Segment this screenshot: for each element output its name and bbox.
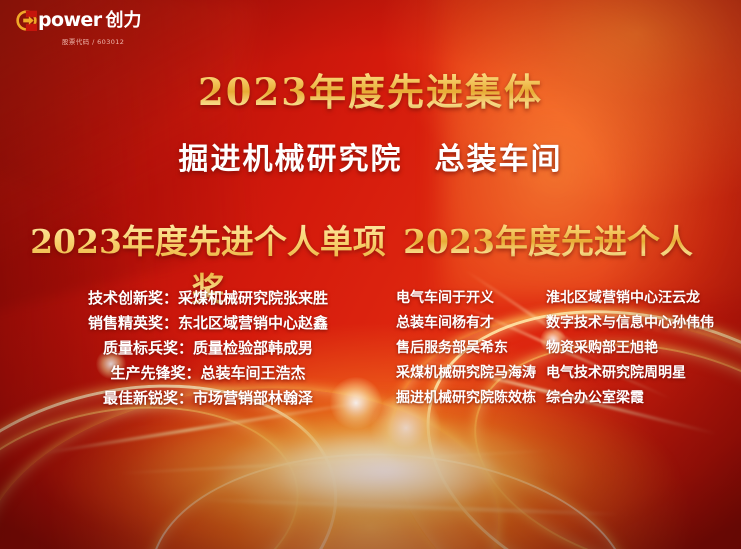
section-heading-right: 2023年度先进个人 [398,215,698,263]
list-row: 电气车间于开义 淮北区域营销中心汪云龙 [396,286,716,311]
list-row: 总装车间杨有才 数字技术与信息中心孙伟伟 [396,311,716,336]
list-item: 最佳新锐奖：市场营销部林翰泽 [22,386,394,411]
brand-logo: power 创力 股票代码 / 603012 [16,10,141,46]
list-row: 售后服务部吴希东 物资采购部王旭艳 [396,336,716,361]
stock-code-label: 股票代码 / 603012 [62,36,124,46]
c-arrow-logo-icon [16,10,37,31]
list-item: 质量标兵奖：质量检验部韩成男 [22,336,394,361]
list-cell-a: 电气车间于开义 [396,286,546,311]
brand-wordmark: power [38,11,101,30]
poster-title-sub: 掘进机械研究院 总装车间 [0,134,741,178]
list-item: 销售精英奖：东北区域营销中心赵鑫 [22,311,394,336]
list-cell-a: 采煤机械研究院马海涛 [396,361,546,386]
list-cell-a: 掘进机械研究院陈效栋 [396,386,546,411]
award-list-left: 技术创新奖：采煤机械研究院张来胜 销售精英奖：东北区域营销中心赵鑫 质量标兵奖：… [22,286,394,411]
list-item: 技术创新奖：采煤机械研究院张来胜 [22,286,394,311]
list-cell-b: 综合办公室梁霞 [546,386,716,411]
list-cell-b: 数字技术与信息中心孙伟伟 [546,311,716,336]
list-cell-a: 售后服务部吴希东 [396,336,546,361]
list-row: 采煤机械研究院马海涛 电气技术研究院周明星 [396,361,716,386]
poster-canvas: power 创力 股票代码 / 603012 2023年度先进集体 掘进机械研究… [0,0,741,549]
poster-content: 2023年度先进集体 掘进机械研究院 总装车间 2023年度先进个人单项奖 20… [0,0,741,549]
list-cell-a: 总装车间杨有才 [396,311,546,336]
list-cell-b: 电气技术研究院周明星 [546,361,716,386]
brand-logo-row: power 创力 [16,10,141,31]
list-cell-b: 淮北区域营销中心汪云龙 [546,286,716,311]
brand-wordmark-cn: 创力 [105,12,141,30]
list-item: 生产先锋奖：总装车间王浩杰 [22,361,394,386]
poster-title-main: 2023年度先进集体 [0,62,741,116]
award-list-right: 电气车间于开义 淮北区域营销中心汪云龙 总装车间杨有才 数字技术与信息中心孙伟伟… [396,286,716,411]
list-row: 掘进机械研究院陈效栋 综合办公室梁霞 [396,386,716,411]
list-cell-b: 物资采购部王旭艳 [546,336,716,361]
